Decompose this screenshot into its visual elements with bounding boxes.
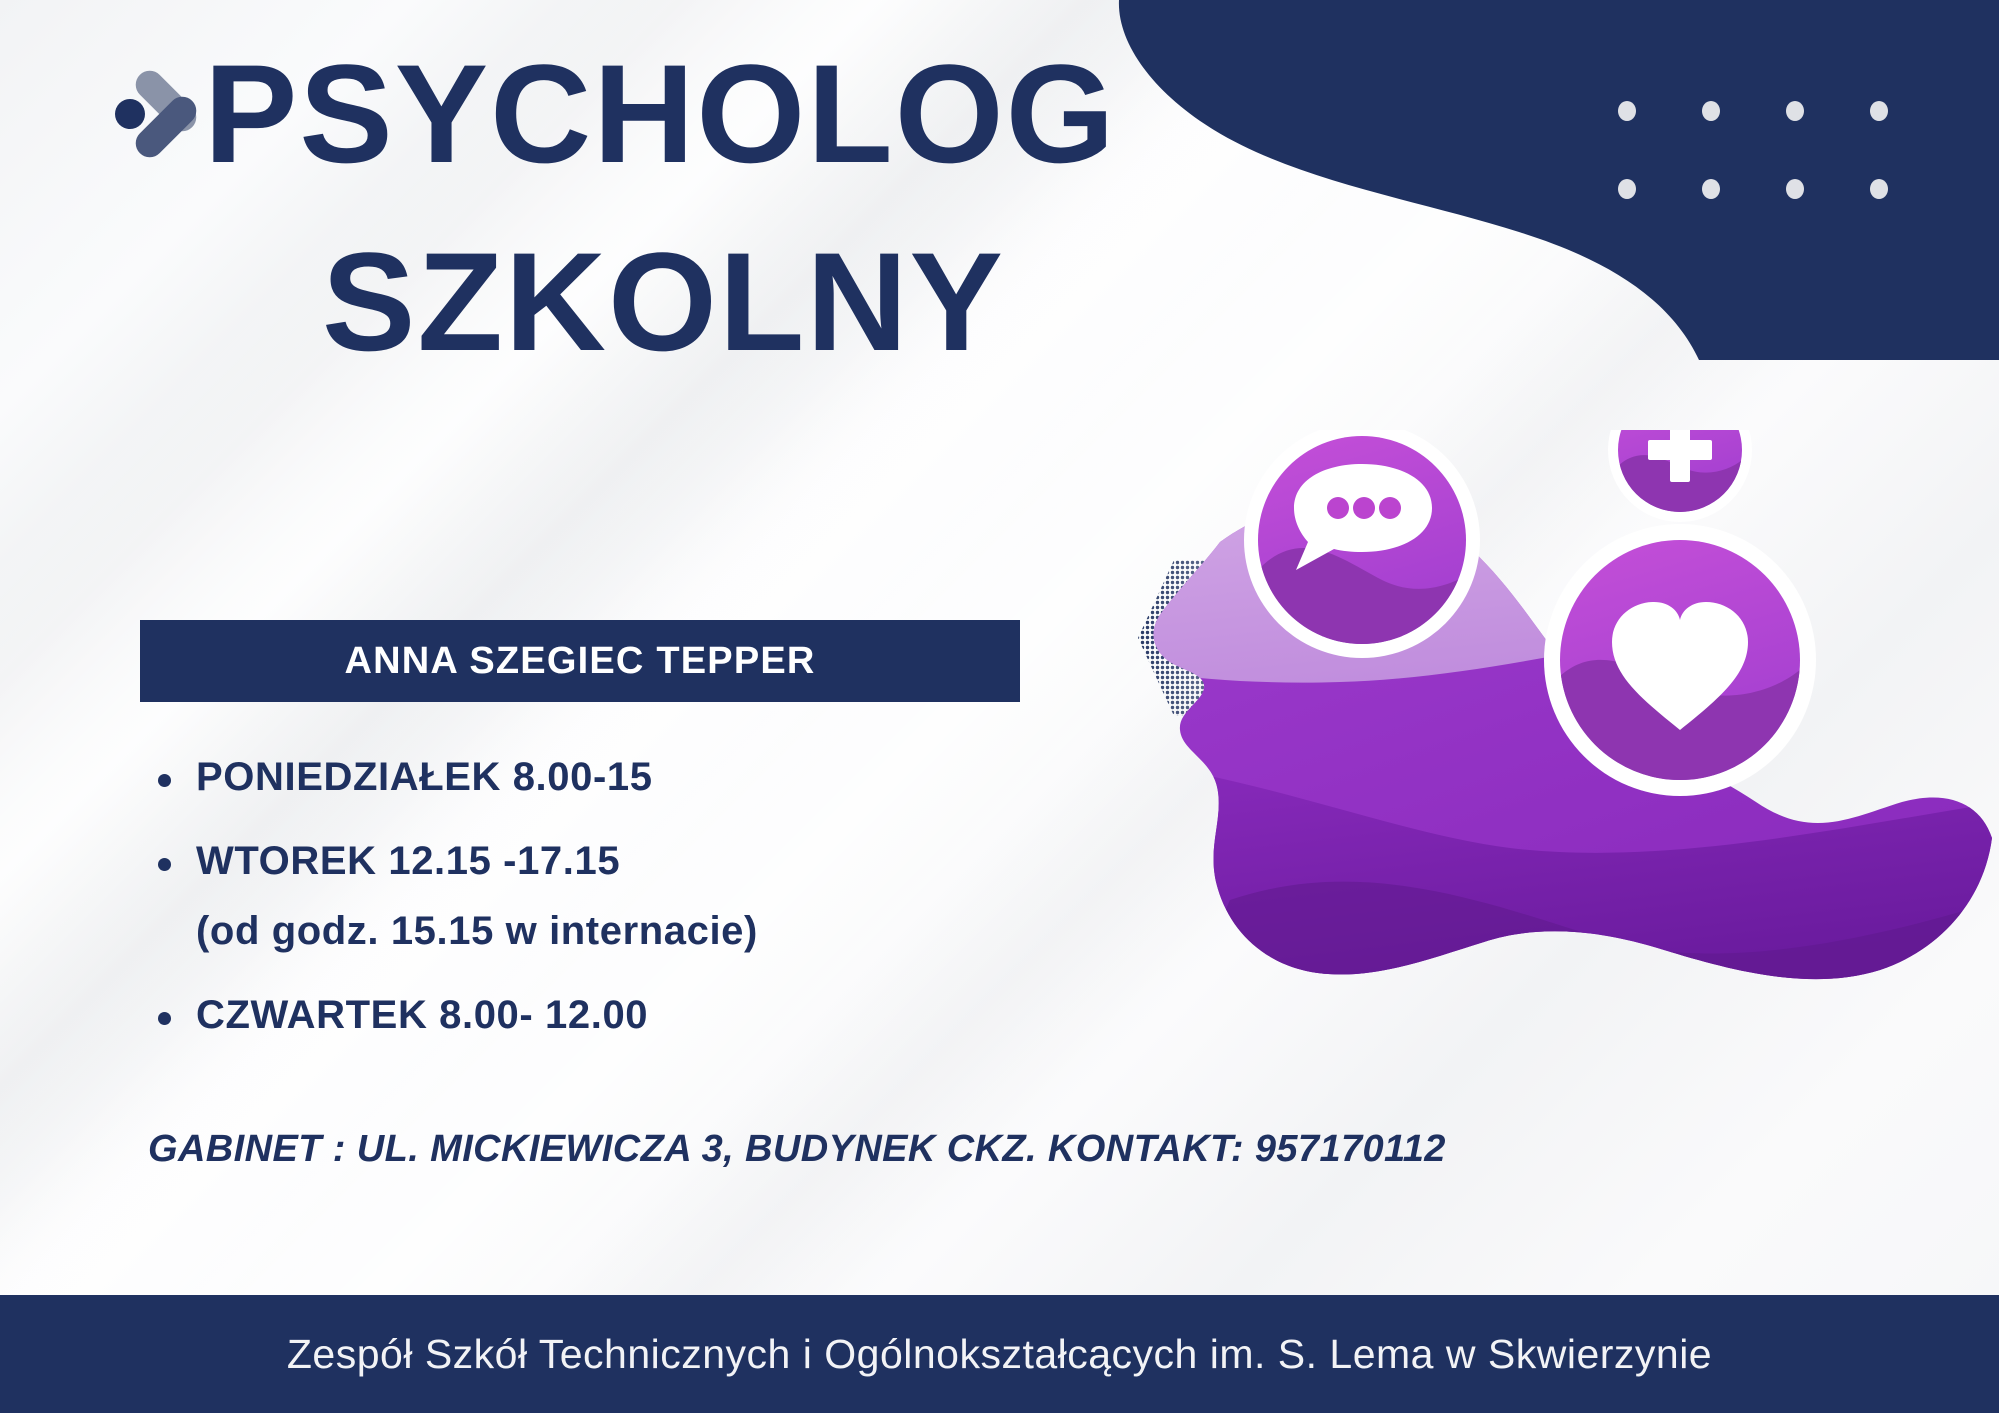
counselor-name-label: ANNA SZEGIEC TEPPER	[344, 640, 815, 683]
poster-root: PSYCHOLOG SZKOLNY	[0, 0, 1999, 1413]
hours-item-note: (od godz. 15.15 w internacie)	[150, 906, 1050, 956]
head-profile-icon	[1040, 430, 1999, 990]
dot	[1870, 179, 1888, 199]
chevron-logo-icon	[104, 58, 224, 168]
hours-item: WTOREK 12.15 -17.15	[150, 836, 1050, 886]
dot	[1786, 101, 1804, 121]
dot	[1786, 179, 1804, 199]
dot	[1870, 101, 1888, 121]
hours-item: PONIEDZIAŁEK 8.00-15	[150, 752, 1050, 802]
title-line-2: SZKOLNY	[204, 222, 1284, 382]
dot	[1618, 179, 1636, 199]
poster-title: PSYCHOLOG SZKOLNY	[204, 34, 1284, 382]
school-footer-bar: Zespół Szkół Technicznych i Ogólnokształ…	[0, 1295, 1999, 1413]
title-line-1: PSYCHOLOG	[204, 34, 1284, 194]
office-hours-list: PONIEDZIAŁEK 8.00-15 WTOREK 12.15 -17.15…	[150, 752, 1050, 1074]
plus-circle-icon	[1608, 430, 1752, 526]
counselor-name-banner: ANNA SZEGIEC TEPPER	[140, 620, 1020, 702]
school-name-label: Zespół Szkół Technicznych i Ogólnokształ…	[287, 1331, 1712, 1378]
dot	[1618, 101, 1636, 121]
dot	[1702, 101, 1720, 121]
dot-grid-decoration	[1585, 72, 1921, 228]
hours-item: CZWARTEK 8.00- 12.00	[150, 990, 1050, 1040]
head-silhouette	[1040, 430, 1999, 990]
contact-line: GABINET : UL. MICKIEWICZA 3, BUDYNEK CKZ…	[148, 1128, 1446, 1171]
dot	[1702, 179, 1720, 199]
